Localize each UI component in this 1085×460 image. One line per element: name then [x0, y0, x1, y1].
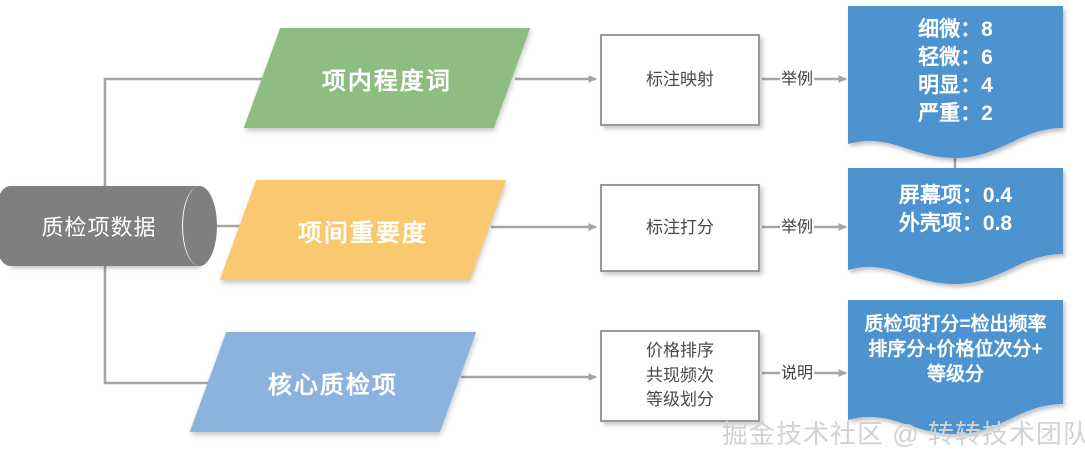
result-node-importance-values[interactable]: 屏幕项：0.4 外壳项：0.8: [848, 168, 1063, 280]
process-line: 共现频次: [646, 364, 714, 389]
process-line: 标注映射: [646, 68, 714, 93]
result-line: 外壳项：0.8: [848, 210, 1063, 238]
result-text-degree-values: 细微：8 轻微：6 明显：4 严重：2: [848, 6, 1063, 128]
category-node-degree-word[interactable]: 项内程度词: [244, 28, 530, 128]
result-line: 严重：2: [848, 100, 1063, 128]
category-node-item-importance[interactable]: 项间重要度: [220, 180, 506, 280]
result-line: 细微：8: [848, 16, 1063, 44]
edge-label-explanation: 说明: [780, 366, 814, 382]
process-line: 等级划分: [646, 388, 714, 413]
result-line: 排序分+价格位次分+: [854, 337, 1057, 362]
cylinder-cap-left: [0, 186, 27, 266]
result-line: 等级分: [854, 362, 1057, 387]
category-label-item-importance: 项间重要度: [298, 213, 428, 248]
cylinder-cap-right: [182, 186, 217, 266]
process-line: 标注打分: [646, 216, 714, 241]
process-node-annotation-mapping[interactable]: 标注映射: [600, 34, 760, 126]
source-node-label: 质检项数据: [41, 210, 156, 242]
result-text-score-formula: 质检项打分=检出频率 排序分+价格位次分+ 等级分: [848, 300, 1063, 387]
category-node-core-item[interactable]: 核心质检项: [190, 332, 476, 432]
edge-label-example-1: 举例: [780, 72, 814, 88]
process-line: 价格排序: [646, 339, 714, 364]
result-node-score-formula[interactable]: 质检项打分=检出频率 排序分+价格位次分+ 等级分: [848, 300, 1063, 428]
process-node-core-rules[interactable]: 价格排序 共现频次 等级划分: [600, 330, 760, 422]
process-node-annotation-scoring[interactable]: 标注打分: [600, 184, 760, 272]
diagram-canvas: 质检项数据 项内程度词 项间重要度 核心质检项 标注映射 标注打分 价格排序 共…: [0, 0, 1085, 460]
result-line: 屏幕项：0.4: [848, 182, 1063, 210]
result-node-degree-values[interactable]: 细微：8 轻微：6 明显：4 严重：2: [848, 6, 1063, 154]
category-label-degree-word: 项内程度词: [322, 61, 452, 96]
edge-label-example-2: 举例: [780, 220, 814, 236]
result-line: 轻微：6: [848, 44, 1063, 72]
result-text-importance-values: 屏幕项：0.4 外壳项：0.8: [848, 168, 1063, 238]
result-line: 质检项打分=检出频率: [854, 312, 1057, 337]
result-line: 明显：4: [848, 72, 1063, 100]
category-label-core-item: 核心质检项: [268, 365, 398, 400]
watermark-text: 掘金技术社区 @ 转转技术团队: [722, 414, 1085, 451]
source-node-database[interactable]: 质检项数据: [10, 186, 200, 266]
